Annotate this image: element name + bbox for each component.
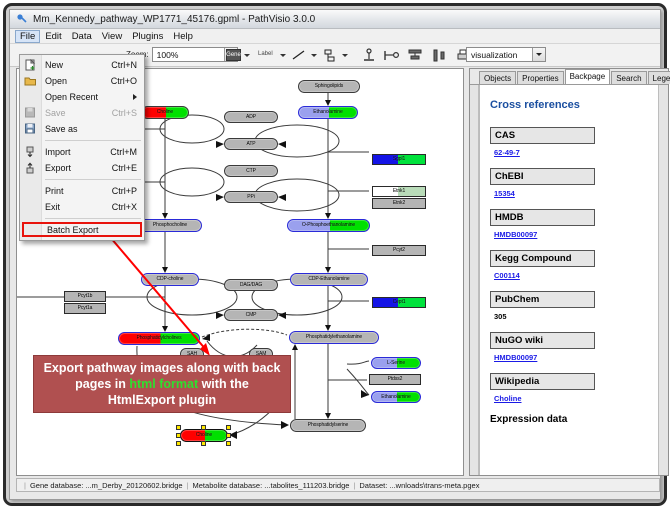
annotation-line-2: pages in html format with the [75, 376, 249, 392]
menu-item-open-recent-label: Open Recent [45, 92, 98, 102]
menu-edit[interactable]: Edit [40, 30, 66, 43]
window-title: Mm_Kennedy_pathway_WP1771_45176.gpml - P… [33, 14, 315, 25]
xref-header-kegg-compound: Kegg Compound [490, 250, 595, 267]
selection-handle-w[interactable] [176, 433, 181, 438]
import-icon [24, 146, 38, 159]
backpage-content: Cross references CAS 62-49-7 ChEBI 15354… [479, 85, 658, 475]
selection-handle-e[interactable] [226, 433, 231, 438]
annotation-line-2-pre: pages in [75, 377, 129, 391]
xref-value-hmdb: HMDB00097 [494, 230, 648, 239]
xref-value-chebi: 15354 [494, 189, 648, 198]
gene-tool-dropdown-icon[interactable] [244, 54, 250, 57]
status-dataset: Dataset: ...wnloads\trans-meta.pgex [359, 481, 479, 490]
save-disk-icon [24, 107, 38, 120]
tab-backpage[interactable]: Backpage [565, 69, 611, 84]
annotation-highlight: html format [129, 377, 198, 391]
gene-tool-button[interactable]: Gene [226, 49, 241, 61]
menu-item-save-label: Save [45, 108, 66, 118]
menu-item-save-as[interactable]: Save as [20, 121, 144, 137]
distribute-tool-icon[interactable] [432, 48, 446, 63]
menu-item-new[interactable]: New Ctrl+N [20, 57, 144, 73]
selection-handle-ne[interactable] [226, 425, 231, 430]
status-sep-2: | [353, 481, 355, 490]
menu-item-batch-export-label: Batch Export [47, 225, 99, 235]
annotation-line-1: Export pathway images along with back [44, 360, 281, 376]
shape-tool-dropdown-icon[interactable] [342, 54, 348, 57]
title-bar: Mm_Kennedy_pathway_WP1771_45176.gpml - P… [10, 10, 660, 29]
screenshot-root: Mm_Kennedy_pathway_WP1771_45176.gpml - P… [0, 0, 670, 509]
menu-item-import[interactable]: Import Ctrl+M [20, 144, 144, 160]
zoom-select[interactable]: 100% [152, 47, 238, 62]
selection-handle-n[interactable] [201, 425, 206, 430]
menu-item-save: Save Ctrl+S [20, 105, 144, 121]
menu-item-new-label: New [45, 60, 63, 70]
menu-separator-1 [45, 140, 141, 141]
status-bar: | Gene database: ...m_Derby_20120602.bri… [16, 478, 660, 492]
menu-item-export[interactable]: Export Ctrl+E [20, 160, 144, 176]
tab-legend[interactable]: Legend [648, 71, 670, 84]
annotation-line-2-post: with the [198, 377, 249, 391]
xref-link-wikipedia[interactable]: Choline [494, 394, 522, 403]
annotation-line-3: HtmlExport plugin [108, 392, 216, 408]
xref-value-wikipedia: Choline [494, 394, 648, 403]
xref-header-chebi: ChEBI [490, 168, 595, 185]
label-tool-button[interactable]: Label [258, 51, 273, 57]
tab-search[interactable]: Search [611, 71, 646, 84]
menu-item-new-shortcut: Ctrl+N [111, 60, 137, 70]
selection-handle-s[interactable] [201, 441, 206, 446]
xref-header-hmdb: HMDB [490, 209, 595, 226]
menu-item-exit-shortcut: Ctrl+X [112, 202, 137, 212]
save-as-icon [24, 123, 38, 136]
selection-handle-se[interactable] [226, 441, 231, 446]
selection-handle-sw[interactable] [176, 441, 181, 446]
menu-item-open-recent[interactable]: Open Recent [20, 89, 144, 105]
xref-header-cas: CAS [490, 127, 595, 144]
menu-item-save-shortcut: Ctrl+S [112, 108, 137, 118]
menu-item-open-label: Open [45, 76, 67, 86]
side-panel-tabs: Objects Properties Backpage Search Legen… [470, 69, 668, 85]
status-gene-database: Gene database: ...m_Derby_20120602.bridg… [30, 481, 183, 490]
xref-link-nugo-wiki[interactable]: HMDB00097 [494, 353, 537, 362]
align-tool-icon[interactable] [408, 48, 422, 63]
visualization-chevron-down-icon[interactable] [532, 48, 545, 61]
xref-value-pubchem: 305 [494, 312, 648, 321]
anchor-tool-icon[interactable] [362, 48, 376, 63]
menu-data[interactable]: Data [67, 30, 97, 43]
menu-item-batch-export[interactable]: Batch Export [22, 222, 142, 237]
menu-view[interactable]: View [97, 30, 127, 43]
menu-plugins[interactable]: Plugins [127, 30, 168, 43]
new-document-icon [24, 59, 38, 72]
selection-handle-nw[interactable] [176, 425, 181, 430]
menu-bar: File Edit Data View Plugins Help [10, 29, 660, 44]
status-sep-0: | [24, 481, 26, 490]
side-panel-left-rail[interactable] [470, 85, 479, 475]
side-panel: Objects Properties Backpage Search Legen… [469, 68, 669, 476]
menu-item-export-shortcut: Ctrl+E [112, 163, 137, 173]
xref-value-nugo-wiki: HMDB00097 [494, 353, 648, 362]
xref-value-kegg-compound: C00114 [494, 271, 648, 280]
xref-link-cas[interactable]: 62-49-7 [494, 148, 520, 157]
tab-objects[interactable]: Objects [479, 71, 516, 84]
menu-item-open[interactable]: Open Ctrl+O [20, 73, 144, 89]
side-panel-scrollbar[interactable] [658, 85, 668, 475]
status-metabolite-database: Metabolite database: ...tabolites_111203… [193, 481, 350, 490]
open-folder-icon [24, 75, 38, 88]
line-tool-button[interactable] [292, 49, 306, 61]
pathvisio-app-icon [16, 13, 28, 25]
xref-link-kegg-compound[interactable]: C00114 [494, 271, 520, 280]
menu-file[interactable]: File [15, 30, 40, 43]
file-menu-dropdown[interactable]: New Ctrl+N Open Ctrl+O Open Recent Save [19, 54, 145, 241]
menu-item-open-shortcut: Ctrl+O [111, 76, 137, 86]
shape-tool-button[interactable] [323, 49, 337, 62]
application-window: Mm_Kennedy_pathway_WP1771_45176.gpml - P… [9, 9, 661, 500]
menu-item-export-label: Export [45, 163, 71, 173]
menu-item-import-shortcut: Ctrl+M [110, 147, 137, 157]
menu-item-print-shortcut: Ctrl+P [112, 186, 137, 196]
menu-item-print[interactable]: Print Ctrl+P [20, 183, 144, 199]
menu-separator-3 [45, 218, 141, 219]
menu-item-import-label: Import [45, 147, 71, 157]
submenu-chevron-right-icon [133, 94, 137, 100]
export-icon [24, 162, 38, 175]
interaction-tool-icon[interactable] [384, 48, 400, 63]
annotation-callout: Export pathway images along with back pa… [33, 355, 291, 413]
xref-header-nugo-wiki: NuGO wiki [490, 332, 595, 349]
xref-link-chebi[interactable]: 15354 [494, 189, 515, 198]
menu-separator-2 [45, 179, 141, 180]
xref-header-pubchem: PubChem [490, 291, 595, 308]
label-tool-dropdown-icon[interactable] [280, 54, 286, 57]
menu-item-print-label: Print [45, 186, 64, 196]
expression-data-heading: Expression data [490, 414, 648, 425]
status-sep-1: | [187, 481, 189, 490]
visualization-value: visualization [471, 50, 517, 60]
visualization-select[interactable]: visualization [466, 47, 546, 62]
menu-item-exit[interactable]: Exit Ctrl+X [20, 199, 144, 215]
menu-item-save-as-label: Save as [45, 124, 78, 134]
zoom-value: 100% [157, 50, 179, 60]
cross-references-heading: Cross references [490, 99, 648, 111]
xref-value-cas: 62-49-7 [494, 148, 648, 157]
menu-item-exit-label: Exit [45, 202, 60, 212]
xref-header-wikipedia: Wikipedia [490, 373, 595, 390]
line-tool-dropdown-icon[interactable] [311, 54, 317, 57]
menu-help[interactable]: Help [168, 30, 198, 43]
tab-properties[interactable]: Properties [517, 71, 563, 84]
xref-link-hmdb[interactable]: HMDB00097 [494, 230, 537, 239]
